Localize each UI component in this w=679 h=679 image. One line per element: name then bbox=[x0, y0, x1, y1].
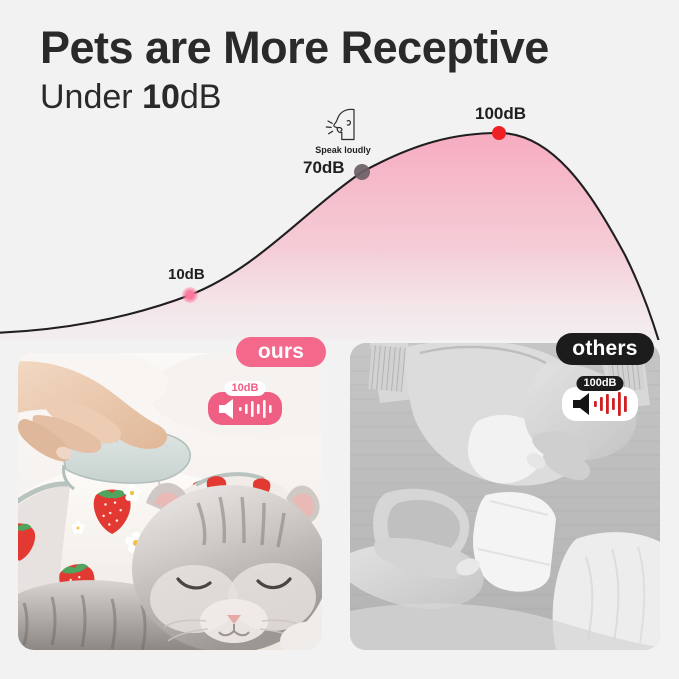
data-label-10db: 10dB bbox=[168, 266, 205, 283]
page-subtitle: Under 10dB bbox=[40, 79, 640, 116]
subtitle-value: 10 bbox=[142, 78, 180, 116]
badge-ours: ours bbox=[236, 337, 326, 367]
speaker-body-others bbox=[562, 387, 638, 421]
page-title: Pets are More Receptive bbox=[40, 24, 640, 71]
promo-graphic: 10dB 70dB 100dB Speak loudly bbox=[0, 0, 679, 679]
data-point-100db bbox=[492, 126, 506, 140]
headline-block: Pets are More Receptive Under 10dB bbox=[40, 24, 640, 117]
speaker-body-ours bbox=[208, 392, 282, 425]
db-chip-others: 100dB bbox=[576, 376, 623, 391]
data-point-70db bbox=[354, 164, 370, 180]
speaker-wave-icon bbox=[570, 392, 630, 416]
badge-others: others bbox=[556, 333, 654, 365]
data-point-10db bbox=[182, 287, 198, 303]
data-label-70db: 70dB bbox=[303, 158, 345, 178]
speaker-badge-others: 100dB bbox=[562, 378, 638, 421]
db-chip-ours: 10dB bbox=[225, 381, 266, 396]
subtitle-prefix: Under bbox=[40, 78, 142, 116]
subtitle-unit: dB bbox=[180, 78, 222, 116]
speaker-badge-ours: 10dB bbox=[208, 383, 282, 425]
speak-loudly-caption: Speak loudly bbox=[312, 145, 374, 155]
speaker-wave-icon bbox=[216, 398, 274, 420]
